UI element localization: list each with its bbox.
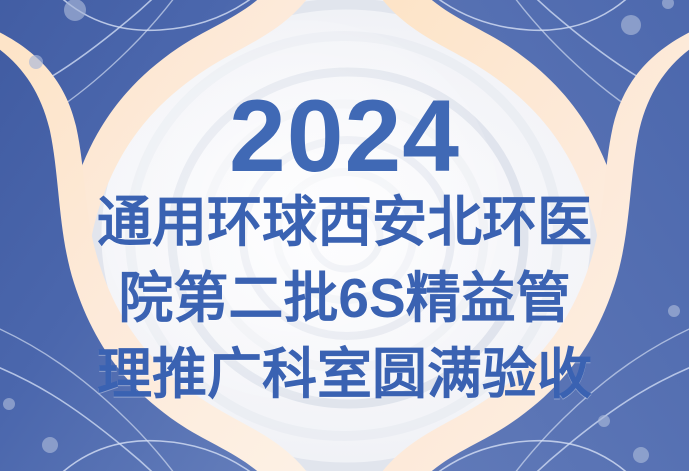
headline-line-2: 院第二批6S精益管 [118, 271, 570, 326]
year-title: 2024 [229, 88, 460, 186]
headline-block: 2024 通用环球西安北环医 院第二批6S精益管 理推广科室圆满验收 [0, 0, 689, 471]
headline-line-1: 通用环球西安北环医 [97, 195, 592, 250]
poster-canvas: 2024 通用环球西安北环医 院第二批6S精益管 理推广科室圆满验收 [0, 0, 689, 471]
headline-line-3: 理推广科室圆满验收 [97, 347, 592, 402]
